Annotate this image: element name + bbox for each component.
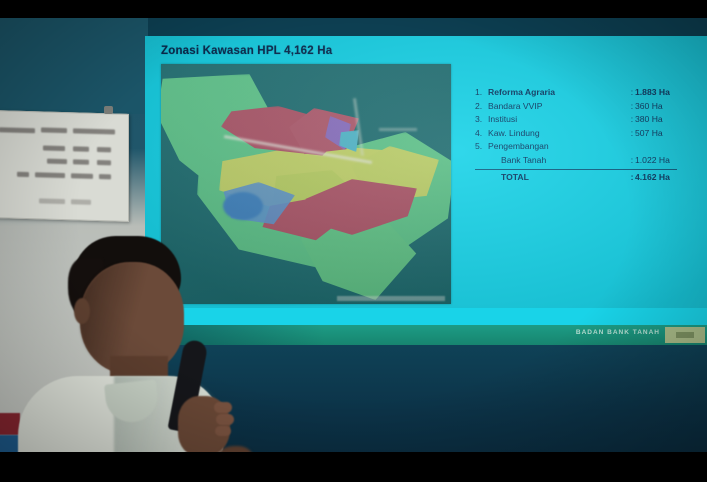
map-caption xyxy=(337,296,445,301)
legend-label: Kaw. Lindung xyxy=(488,127,629,141)
whiteboard-clip xyxy=(104,106,113,114)
legend-label: Bank Tanah xyxy=(488,154,629,168)
legend-number: 3. xyxy=(475,113,488,127)
legend-number: 1. xyxy=(475,86,488,100)
presenter-ear xyxy=(74,298,90,324)
legend-row: 3. Institusi : 380 Ha xyxy=(475,113,693,127)
legend-row: 4. Kaw. Lindung : 507 Ha xyxy=(475,127,693,141)
organization-logo xyxy=(665,327,705,343)
legend-number: 4. xyxy=(475,127,488,141)
room-background: Zonasi Kawasan HPL 4,162 Ha xyxy=(0,18,707,452)
legend-value: 380 Ha xyxy=(635,113,693,127)
legend-value: 360 Ha xyxy=(635,100,693,114)
letterbox-top xyxy=(0,0,707,18)
legend-row: 2. Bandara VVIP : 360 Ha xyxy=(475,100,693,114)
whiteboard xyxy=(0,110,129,222)
legend-label: Pengembangan xyxy=(488,140,629,154)
legend-row: Bank Tanah : 1.022 Ha xyxy=(475,154,693,168)
photo-frame: Zonasi Kawasan HPL 4,162 Ha xyxy=(0,0,707,482)
legend-total-label: TOTAL xyxy=(488,171,629,185)
legend-number: 5. xyxy=(475,140,488,154)
legend-label: Reforma Agraria xyxy=(488,86,629,100)
slide-title: Zonasi Kawasan HPL 4,162 Ha xyxy=(161,45,332,57)
legend-total-row: TOTAL : 4.162 Ha xyxy=(475,171,693,185)
legend-number: 2. xyxy=(475,100,488,114)
legend-value: 507 Ha xyxy=(635,127,693,141)
legend-total-value: 4.162 Ha xyxy=(635,171,693,185)
legend-divider xyxy=(475,169,677,170)
legend-value: 1.022 Ha xyxy=(635,154,693,168)
legend-label: Institusi xyxy=(488,113,629,127)
red-object xyxy=(0,413,20,435)
organization-name: BADAN BANK TANAH xyxy=(576,329,660,336)
legend-row: 1. Reforma Agraria : 1.883 Ha xyxy=(475,86,693,100)
left-wall-upper xyxy=(0,18,148,114)
legend-row: 5. Pengembangan xyxy=(475,140,693,154)
legend-value: 1.883 Ha xyxy=(635,86,693,100)
presenter xyxy=(18,236,283,452)
legend-label: Bandara VVIP xyxy=(488,100,629,114)
letterbox-bottom xyxy=(0,452,707,482)
zone-legend: 1. Reforma Agraria : 1.883 Ha 2. Bandara… xyxy=(475,86,693,184)
